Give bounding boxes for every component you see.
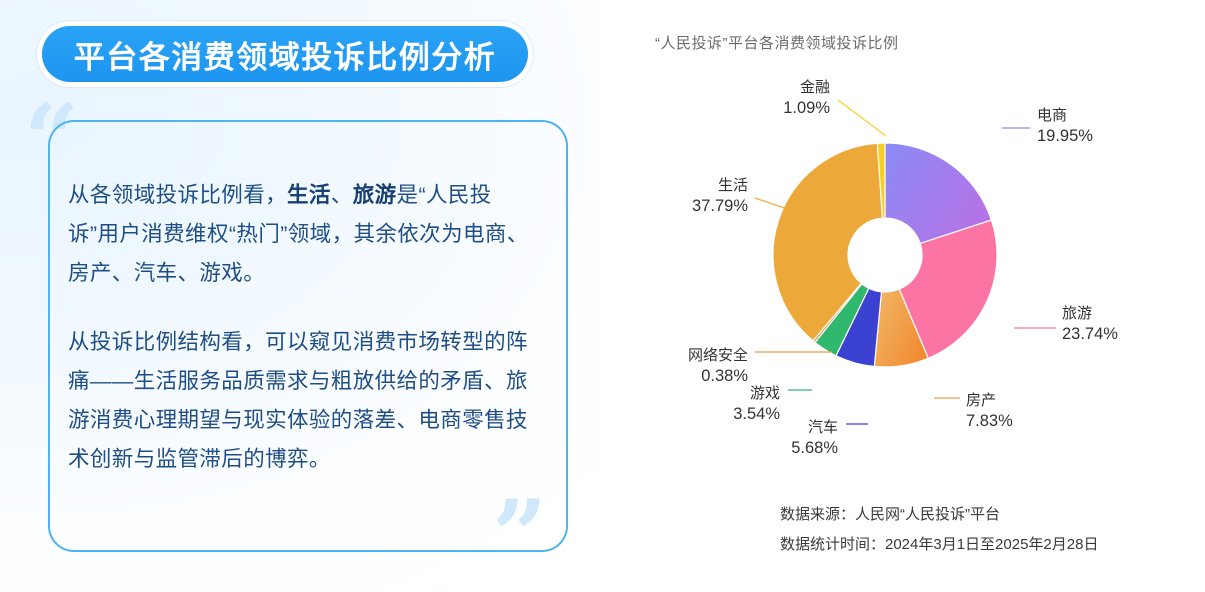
panel-title-pill: 平台各消费领域投诉比例分析	[42, 26, 528, 82]
slice-label-value-生活: 37.79%	[692, 197, 748, 215]
page-title: 平台各消费领域投诉比例分析	[74, 32, 497, 77]
slice-label-name-网络安全: 网络安全	[688, 346, 748, 364]
p1-highlight-1: 生活	[287, 183, 331, 207]
slice-label-name-房产: 房产	[966, 392, 996, 409]
slice-label-value-旅游: 23.74%	[1062, 325, 1118, 343]
period-label: 数据统计时间：2024年3月1日至2025年2月28日	[780, 530, 1200, 560]
slice-label-value-游戏: 3.54%	[733, 405, 780, 423]
slice-label-name-旅游: 旅游	[1062, 305, 1092, 322]
slice-label-value-汽车: 5.68%	[791, 439, 838, 457]
slice-label-name-电商: 电商	[1037, 107, 1067, 124]
slice-label-name-游戏: 游戏	[750, 385, 780, 402]
donut-chart-svg: 电商19.95%旅游23.74%房产7.83%汽车5.68%游戏3.54%网络安…	[600, 0, 1205, 480]
slice-label-value-电商: 19.95%	[1037, 127, 1093, 145]
p1-part-a: 从各领域投诉比例看，	[68, 183, 287, 207]
slice-label-name-金融: 金融	[800, 79, 830, 96]
donut-chart: 电商19.95%旅游23.74%房产7.83%汽车5.68%游戏3.54%网络安…	[600, 0, 1205, 480]
source-label: 数据来源：人民网“人民投诉”平台	[780, 500, 1200, 530]
slice-label-value-金融: 1.09%	[783, 99, 830, 117]
leader-line-金融	[838, 100, 886, 136]
p1-part-c: 、	[331, 183, 353, 207]
body-text: 从各领域投诉比例看，生活、旅游是“人民投诉”用户消费维权“热门”领域，其余依次为…	[68, 176, 538, 479]
quote-close-mark: ”	[492, 488, 547, 584]
slice-label-name-汽车: 汽车	[808, 419, 838, 436]
p1-highlight-2: 旅游	[353, 183, 397, 207]
left-panel: 平台各消费领域投诉比例分析 “ 从各领域投诉比例看，生活、旅游是“人民投诉”用户…	[0, 0, 600, 592]
chart-footer: 数据来源：人民网“人民投诉”平台 数据统计时间：2024年3月1日至2025年2…	[780, 500, 1200, 560]
right-panel: “人民投诉”平台各消费领域投诉比例 电商19.95%旅游23.74%房产7.83…	[600, 0, 1205, 592]
infographic-page: 平台各消费领域投诉比例分析 “ 从各领域投诉比例看，生活、旅游是“人民投诉”用户…	[0, 0, 1205, 592]
slice-label-value-房产: 7.83%	[966, 412, 1013, 430]
paragraph-2: 从投诉比例结构看，可以窥见消费市场转型的阵痛——生活服务品质需求与粗放供给的矛盾…	[68, 323, 538, 479]
paragraph-1: 从各领域投诉比例看，生活、旅游是“人民投诉”用户消费维权“热门”领域，其余依次为…	[68, 176, 538, 293]
slice-label-value-网络安全: 0.38%	[701, 367, 748, 385]
slice-label-name-生活: 生活	[718, 177, 748, 194]
